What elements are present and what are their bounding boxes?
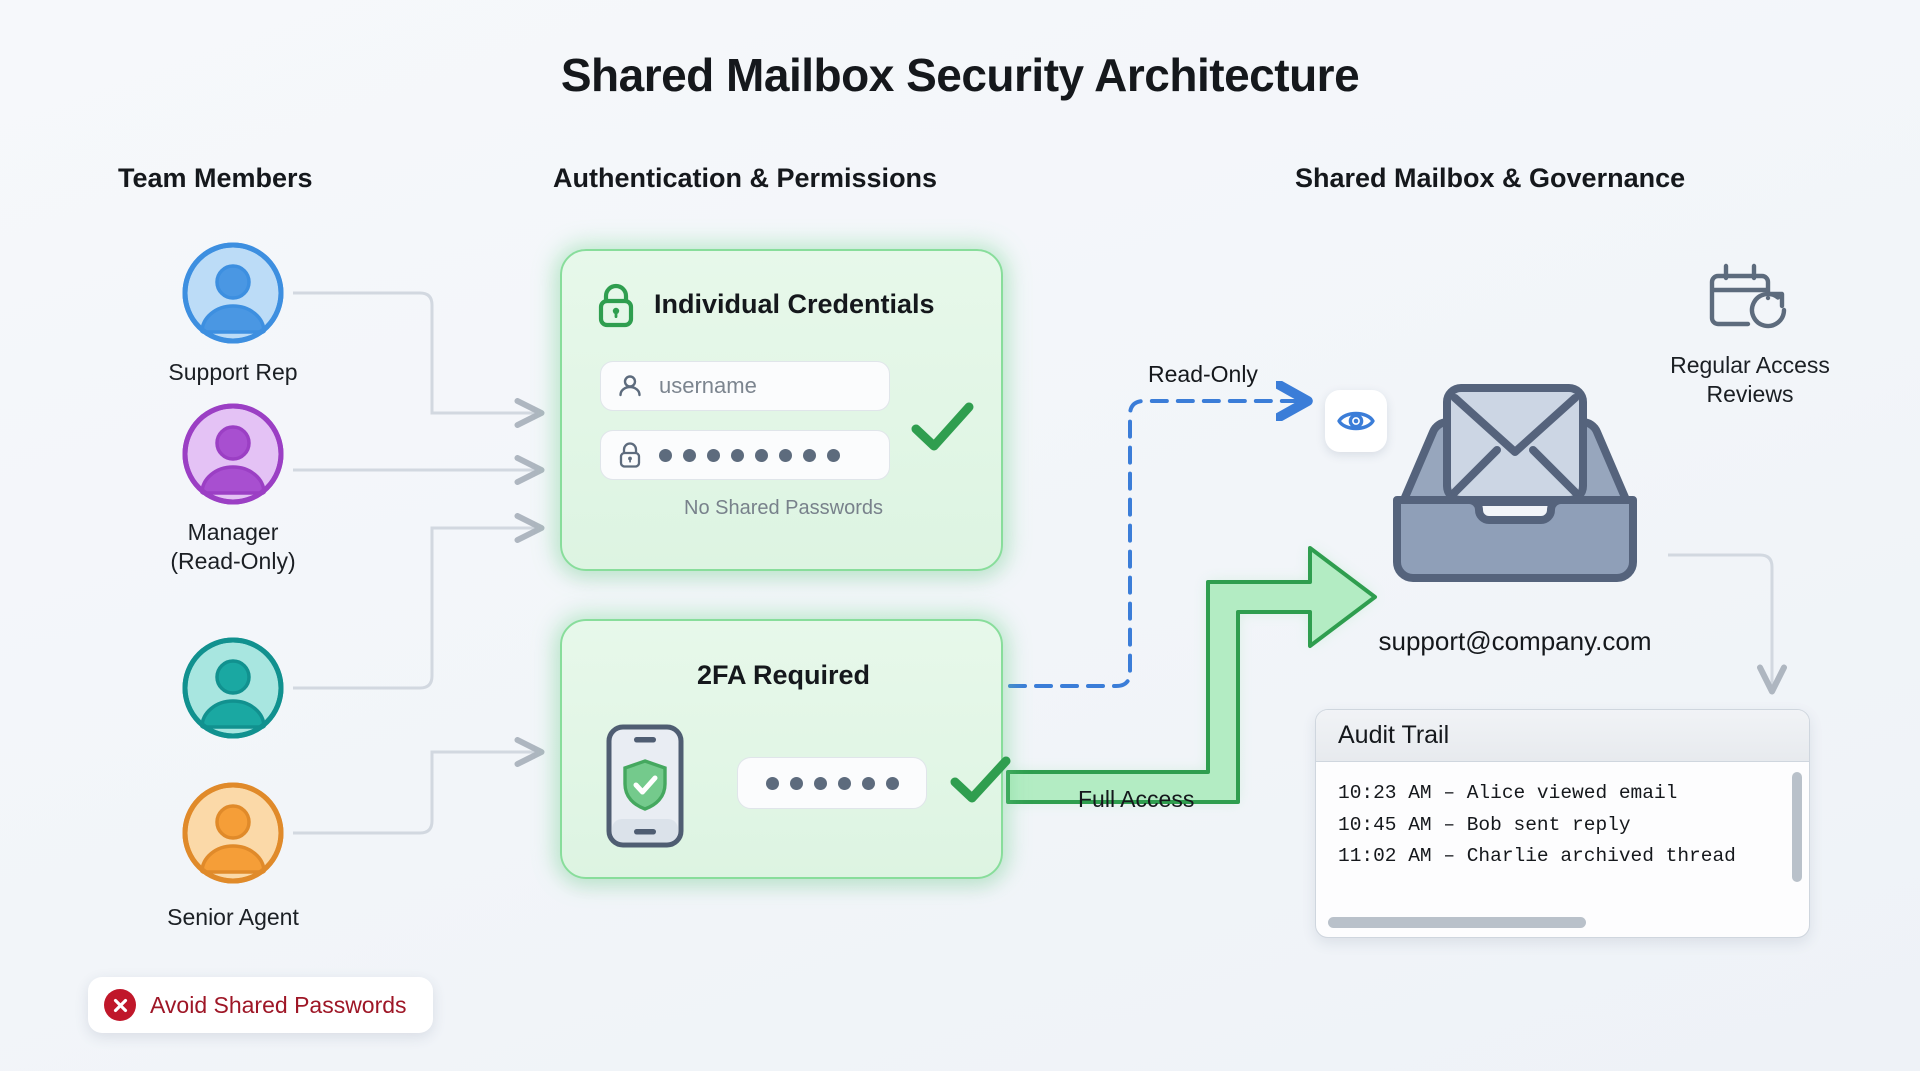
lock-icon [617,441,643,469]
review-label-line2: Reviews [1707,381,1794,407]
review-label-line1: Regular Access [1670,352,1830,378]
lock-icon [594,281,638,329]
inbox-envelope-icon [1375,372,1655,604]
phone-shield-icon [606,724,684,848]
user-avatar-icon [182,637,284,739]
avatar-manager[interactable] [182,403,284,505]
twofa-required-card: 2FA Required [560,619,1003,879]
audit-horizontal-scrollbar[interactable] [1328,917,1586,928]
calendar-refresh-icon [1708,258,1792,336]
person-label-manager-line2: (Read-Only) [170,548,295,574]
eye-icon [1337,408,1375,434]
person-label-senior-agent: Senior Agent [103,903,363,932]
flow-label-read-only: Read-Only [1148,361,1258,388]
audit-trail-panel: Audit Trail 10:23 AM – Alice viewed emai… [1315,709,1810,938]
user-avatar-icon [182,403,284,505]
audit-vertical-scrollbar[interactable] [1792,772,1802,882]
column-heading-governance: Shared Mailbox & Governance [1295,163,1685,194]
audit-trail-title: Audit Trail [1316,710,1809,762]
green-check-icon [910,399,976,455]
password-masked-value [659,449,840,462]
flow-label-full-access: Full Access [1078,786,1194,813]
avatar-team-member-3[interactable] [182,637,284,739]
twofa-code-input[interactable] [737,757,927,809]
audit-entry: 10:23 AM – Alice viewed email [1338,778,1787,810]
person-label-support-rep: Support Rep [103,358,363,387]
diagram-canvas: Shared Mailbox Security Architecture Tea… [0,0,1920,1071]
audit-entry: 10:45 AM – Bob sent reply [1338,810,1787,842]
person-label-manager: Manager (Read-Only) [103,518,363,577]
user-avatar-icon [182,242,284,344]
column-heading-auth: Authentication & Permissions [553,163,937,194]
username-input[interactable]: username [600,361,890,411]
mailbox-address: support@company.com [1305,626,1725,657]
shared-mailbox-icon-wrap[interactable] [1375,372,1655,604]
warning-text: Avoid Shared Passwords [150,992,407,1019]
audit-entry: 11:02 AM – Charlie archived thread [1338,841,1787,873]
credentials-note: No Shared Passwords [562,497,1005,520]
user-avatar-icon [182,782,284,884]
avatar-senior-agent[interactable] [182,782,284,884]
regular-access-reviews: Regular Access Reviews [1640,258,1860,410]
individual-credentials-card: Individual Credentials username No [560,249,1003,571]
username-placeholder: username [659,373,757,399]
column-heading-team: Team Members [118,163,313,194]
avatar-support-rep[interactable] [182,242,284,344]
credentials-card-title: Individual Credentials [654,289,935,320]
password-input[interactable] [600,430,890,480]
user-icon [617,373,643,399]
x-circle-icon [104,989,136,1021]
person-label-manager-line1: Manager [188,519,279,545]
avoid-shared-passwords-badge: Avoid Shared Passwords [88,977,433,1033]
twofa-card-title: 2FA Required [562,660,1005,691]
audit-trail-body: 10:23 AM – Alice viewed email 10:45 AM –… [1316,762,1809,889]
page-title: Shared Mailbox Security Architecture [0,48,1920,102]
green-check-icon [950,754,1012,808]
twofa-masked-value [766,777,899,790]
